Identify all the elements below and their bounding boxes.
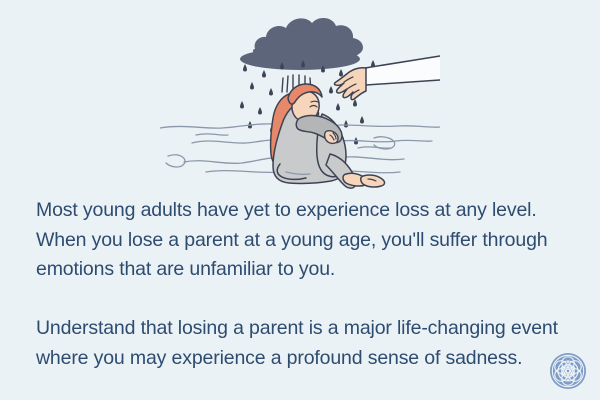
storm-cloud-icon <box>240 18 363 70</box>
info-graphic-card: .ln { fill:none; stroke:#3d4353; stroke-… <box>0 0 600 400</box>
circular-mandala-logo <box>549 352 587 390</box>
paragraph-one: Most young adults have yet to experience… <box>36 196 564 285</box>
paragraph-two: Understand that losing a parent is a maj… <box>36 314 564 373</box>
text-content: Most young adults have yet to experience… <box>36 196 564 373</box>
sad-person-in-rain-illustration: .ln { fill:none; stroke:#3d4353; stroke-… <box>160 2 440 192</box>
